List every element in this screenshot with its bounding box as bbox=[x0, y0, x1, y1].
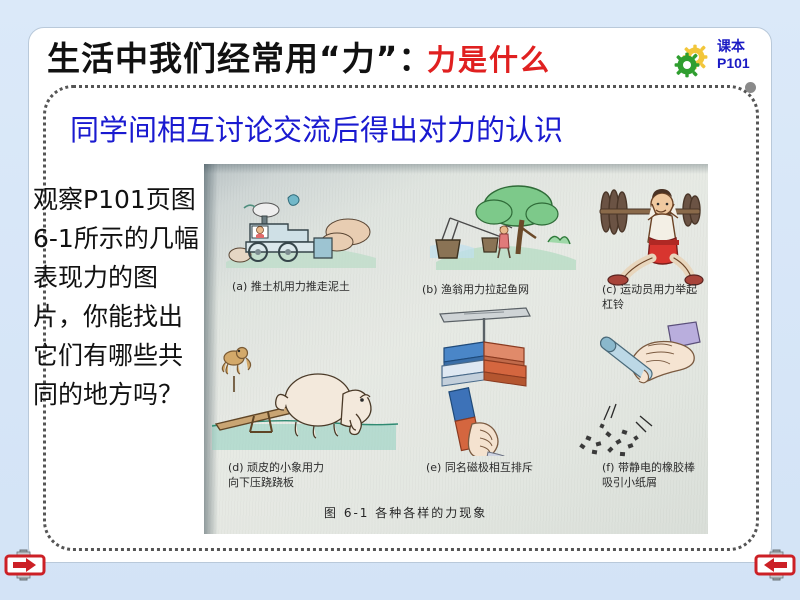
figure-number-caption: 图 6-1 各种各样的力现象 bbox=[324, 504, 487, 521]
figure-caption-a: (a) 推土机用力推走泥土 bbox=[232, 279, 350, 294]
figure-caption-b: (b) 渔翁用力拉起鱼网 bbox=[422, 282, 529, 297]
textbook-reference-badge: 课本 P101 bbox=[649, 33, 769, 87]
illustration-charged-rod bbox=[572, 312, 708, 462]
page-title-highlight: 力是什么 bbox=[427, 37, 551, 79]
subtitle-heading: 同学间相互讨论交流后得出对力的认识 bbox=[70, 107, 563, 149]
question-paragraph: 观察P101页图6-1所示的几幅表现力的图片，你能找出它们有哪些共同的地方吗？ bbox=[33, 180, 205, 414]
figure-caption-e: (e) 同名磁极相互排斥 bbox=[426, 460, 533, 475]
textbook-figure-photo: (a) 推土机用力推走泥土 (b) 渔翁用力拉起鱼网 (c) 运动员用力举起杠铃 bbox=[204, 164, 708, 534]
figure-caption-c: (c) 运动员用力举起杠铃 bbox=[602, 282, 708, 312]
page-title: 生活中我们经常用“力”： bbox=[47, 32, 432, 80]
figure-caption-f: (f) 带静电的橡胶棒 吸引小纸屑 bbox=[602, 460, 695, 490]
illustration-fisherman bbox=[430, 176, 580, 276]
slide-stage: 生活中我们经常用“力”： 力是什么 bbox=[0, 0, 800, 600]
textbook-reference-label: 课本 P101 bbox=[717, 38, 750, 72]
prev-arrow-icon[interactable] bbox=[4, 548, 50, 582]
gear-icon bbox=[673, 39, 713, 79]
next-arrow-icon[interactable] bbox=[750, 548, 796, 582]
illustration-bulldozer bbox=[222, 180, 382, 272]
frame-terminator-dot bbox=[745, 82, 756, 93]
figure-caption-d: (d) 顽皮的小象用力 向下压跷跷板 bbox=[228, 460, 324, 490]
slide-header: 生活中我们经常用“力”： 力是什么 bbox=[29, 28, 773, 88]
textbook-label-line1: 课本 bbox=[717, 38, 750, 55]
illustration-magnets bbox=[400, 304, 550, 456]
textbook-label-line2: P101 bbox=[717, 55, 750, 72]
illustration-weightlifter bbox=[582, 170, 704, 286]
illustration-elephant-seesaw bbox=[210, 336, 400, 456]
